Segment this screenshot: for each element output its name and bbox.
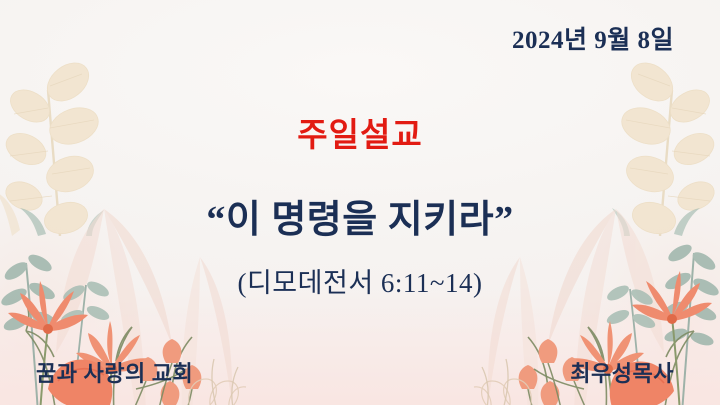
service-date: 2024년 9월 8일 [512, 20, 674, 56]
sermon-title: “이 명령을 지키라” [0, 188, 720, 243]
service-type-heading: 주일설교 [0, 108, 720, 156]
scripture-reference: (디모데전서 6:11~14) [0, 261, 720, 300]
church-name: 꿈과 사랑의 교회 [36, 356, 193, 388]
slide-text-layer: 2024년 9월 8일 주일설교 “이 명령을 지키라” (디모데전서 6:11… [0, 0, 720, 405]
preacher-name: 최우성목사 [570, 356, 674, 388]
sermon-slide: 2024년 9월 8일 주일설교 “이 명령을 지키라” (디모데전서 6:11… [0, 0, 720, 405]
